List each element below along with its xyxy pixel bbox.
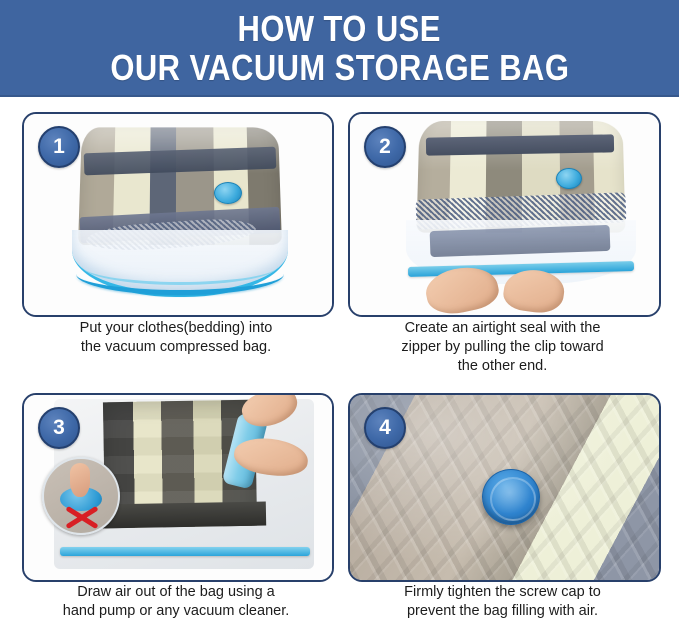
screw-cap-icon: [482, 469, 540, 525]
bedding-dark-band: [98, 502, 266, 529]
header-title-line-2: OUR VACUUM STORAGE BAG: [110, 50, 569, 87]
step-number-badge-1: 1: [38, 126, 80, 168]
vacuum-bag-with-hands: [418, 120, 624, 286]
steps-grid: 1 Put your clothes(bedding) into the vac…: [0, 97, 679, 641]
step-number-badge-3: 3: [38, 407, 80, 449]
zipper-seal: [60, 547, 310, 556]
step-4-caption-line-2: prevent the bag filling with air.: [348, 602, 657, 621]
red-x-icon: [64, 503, 98, 529]
step-2-caption-line-3: the other end.: [348, 357, 657, 376]
step-number-badge-2: 2: [364, 126, 406, 168]
zipper-seal: [76, 274, 284, 295]
header-title-line-1: HOW TO USE: [238, 11, 441, 48]
step-2-caption-line-2: zipper by pulling the clip toward: [348, 338, 657, 357]
step-1-caption: Put your clothes(bedding) into the vacuu…: [22, 319, 330, 357]
step-card-3: 3 Draw air out of the bag using a hand p…: [22, 393, 330, 578]
valve-cap-icon: [556, 168, 582, 189]
step-card-2: 2 Create an airtight seal with the zippe…: [348, 112, 657, 313]
step-2-caption-line-1: Create an airtight seal with the: [348, 319, 657, 338]
step-1-caption-line-1: Put your clothes(bedding) into: [22, 319, 330, 338]
do-not-press-valve-inset: [42, 457, 120, 535]
step-3-caption-line-2: hand pump or any vacuum cleaner.: [22, 602, 330, 621]
step-4-image-frame: 4: [348, 393, 661, 582]
step-4-caption: Firmly tighten the screw cap to prevent …: [348, 583, 657, 621]
page-header-banner: HOW TO USE OUR VACUUM STORAGE BAG: [0, 0, 679, 97]
finger-icon: [70, 463, 90, 497]
step-3-caption-line-1: Draw air out of the bag using a: [22, 583, 330, 602]
step-3-caption: Draw air out of the bag using a hand pum…: [22, 583, 330, 621]
step-1-image-frame: 1: [22, 112, 334, 317]
step-4-caption-line-1: Firmly tighten the screw cap to: [348, 583, 657, 602]
step-card-4: 4 Firmly tighten the screw cap to preven…: [348, 393, 657, 578]
step-number-badge-4: 4: [364, 407, 406, 449]
bedding-stripe-top: [426, 134, 614, 155]
step-card-1: 1 Put your clothes(bedding) into the vac…: [22, 112, 330, 313]
step-2-caption: Create an airtight seal with the zipper …: [348, 319, 657, 376]
step-3-image-frame: 3: [22, 393, 334, 582]
valve-cap-icon: [214, 182, 242, 204]
step-1-caption-line-2: the vacuum compressed bag.: [22, 338, 330, 357]
vacuum-bag-inflated: [80, 126, 280, 296]
step-2-image-frame: 2: [348, 112, 661, 317]
